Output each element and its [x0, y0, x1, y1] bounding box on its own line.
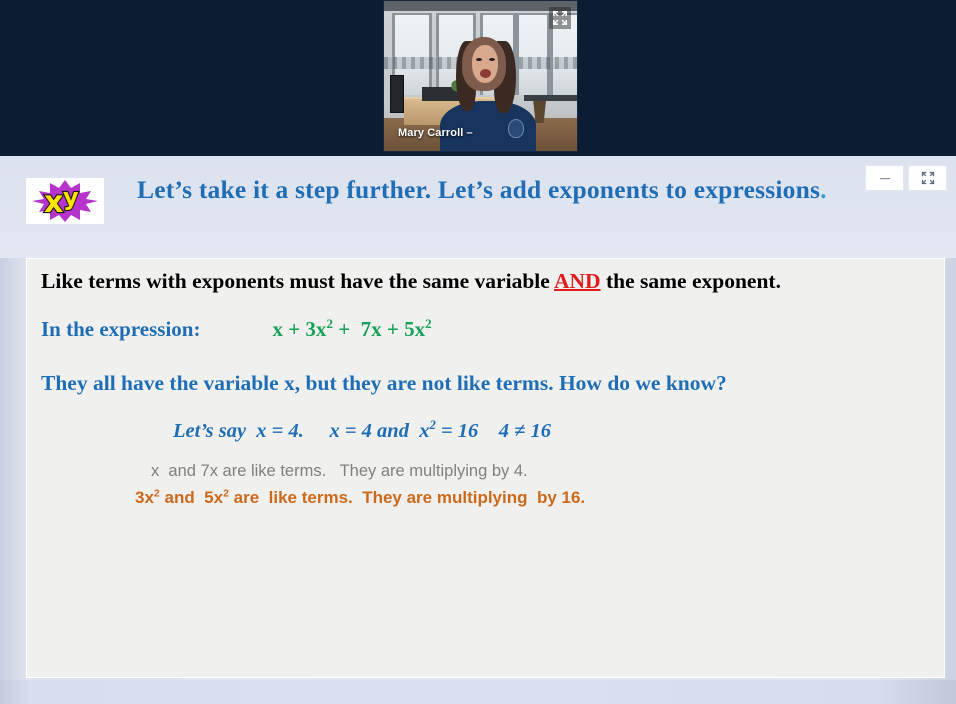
- orange-term-3: are like terms. They are multiplying by …: [229, 488, 585, 507]
- presentation-slide: x y Let’s take it a step further. Let’s …: [0, 156, 956, 704]
- expression-term-2: + 7x + 5x: [333, 317, 425, 341]
- lets-say-part-1: Let’s say x = 4.: [173, 420, 304, 442]
- person-eye-right: [489, 58, 495, 61]
- expression-row: In the expression: x + 3x2 + 7x + 5x2: [35, 317, 936, 342]
- slide-title-line2: expressions: [694, 175, 820, 204]
- question-paragraph: They all have the variable x, but they a…: [35, 370, 936, 398]
- expression-exponent-2: 2: [425, 316, 432, 331]
- expression-value: x + 3x2 + 7x + 5x2: [272, 317, 431, 342]
- fullscreen-expand-icon[interactable]: [549, 7, 571, 29]
- rule-text-after: the same exponent.: [601, 269, 781, 293]
- fullscreen-icon: [921, 171, 935, 185]
- fullscreen-button[interactable]: [908, 165, 947, 191]
- slide-header: x y Let’s take it a step further. Let’s …: [0, 156, 956, 258]
- svg-text:x: x: [44, 185, 63, 220]
- xy-logo-icon: x y: [26, 178, 104, 224]
- lets-say-row: Let’s say x = 4. x = 4 and x2 = 16 4 ≠ 1…: [35, 420, 936, 443]
- expression-term-1: x + 3x: [272, 317, 326, 341]
- expression-label: In the expression:: [41, 317, 200, 342]
- svg-text:y: y: [63, 183, 79, 211]
- orange-term-1: 3x: [135, 488, 154, 507]
- rule-paragraph: Like terms with exponents must have the …: [35, 268, 936, 295]
- minimize-icon: [878, 171, 892, 185]
- speaker-box: [390, 75, 404, 113]
- person-mouth: [480, 69, 491, 78]
- participant-name-label: Mary Carroll –: [398, 127, 473, 139]
- slide-title: Let’s take it a step further. Let’s add …: [137, 174, 877, 206]
- orange-term-2: and 5x: [160, 488, 223, 507]
- video-conference-band: Mary Carroll –: [0, 0, 956, 156]
- window-pane: [516, 13, 550, 95]
- window-controls: [865, 165, 947, 191]
- lets-say-part-2: x = 4 and x: [329, 420, 429, 442]
- video-participant-tile[interactable]: Mary Carroll –: [383, 0, 578, 152]
- orange-note-row: 3x2 and 5x2 are like terms. They are mul…: [35, 488, 936, 508]
- rule-text-before: Like terms with exponents must have the …: [41, 269, 554, 293]
- shirt-badge: [508, 119, 524, 138]
- person-eye-left: [476, 58, 482, 61]
- slide-content-panel: Like terms with exponents must have the …: [26, 258, 945, 678]
- slide-title-period: .: [820, 175, 827, 204]
- slide-bottom-strip: [0, 680, 956, 704]
- rule-emphasis-and: AND: [554, 269, 601, 293]
- table: [524, 95, 578, 101]
- gray-note-row: x and 7x are like terms. They are multip…: [35, 462, 936, 481]
- slide-title-line1: Let’s take it a step further. Let’s add …: [137, 175, 687, 204]
- lets-say-part-3: = 16 4 ≠ 16: [436, 420, 551, 442]
- minimize-button[interactable]: [865, 165, 904, 191]
